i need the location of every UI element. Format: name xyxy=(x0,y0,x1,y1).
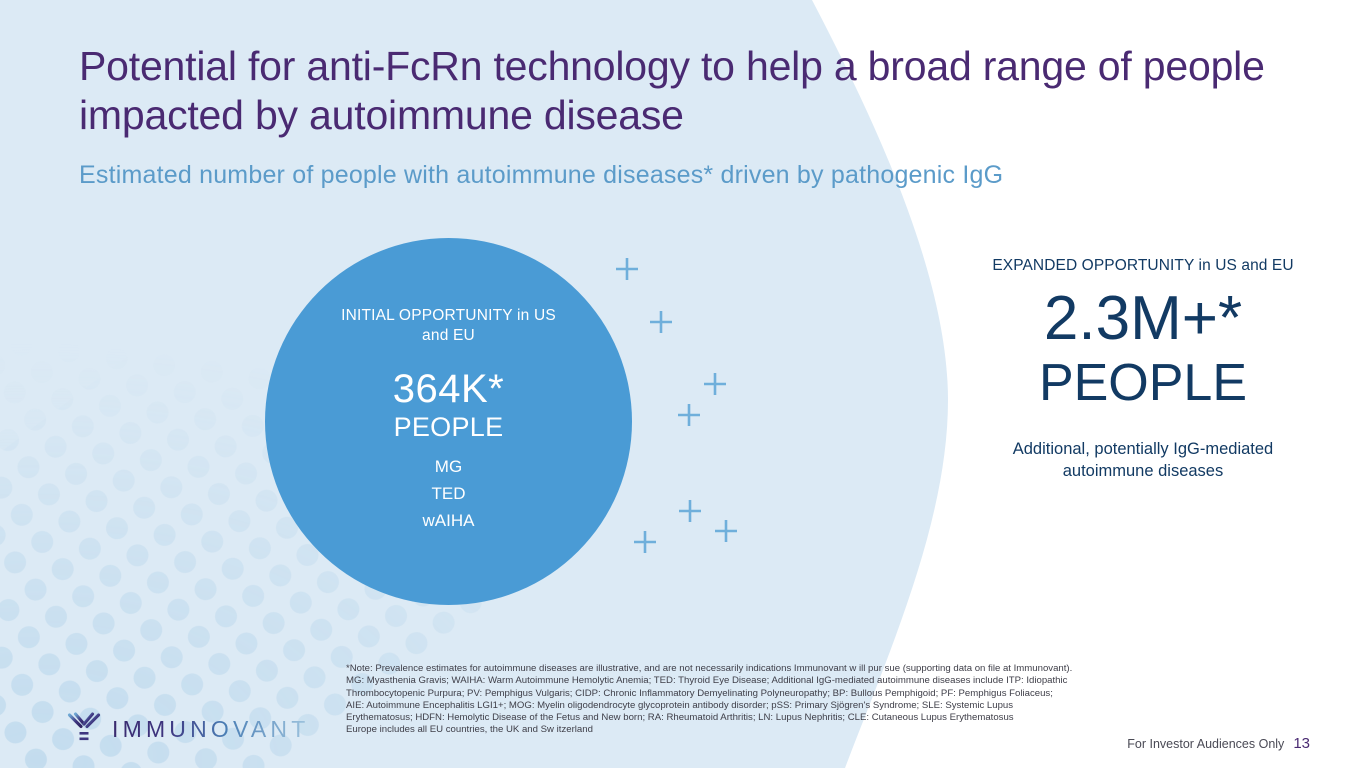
initial-opportunity-disease-list: MGTEDwAIHA xyxy=(423,457,475,531)
immunovant-logo: IMMUNOVANT xyxy=(66,712,309,746)
slide-canvas: Potential for anti-FcRn technology to he… xyxy=(0,0,1365,768)
page-title: Potential for anti-FcRn technology to he… xyxy=(79,42,1299,140)
plus-icon xyxy=(634,531,656,553)
initial-opportunity-eyebrow: INITIAL OPPORTUNITY in US and EU xyxy=(334,306,564,346)
investor-audience-note: For Investor Audiences Only xyxy=(1127,737,1284,751)
plus-icon xyxy=(715,520,737,542)
plus-icon xyxy=(704,373,726,395)
footnote-line: Thrombocytopenic Purpura; PV: Pemphigus … xyxy=(346,688,1226,700)
footnote-line: Europe includes all EU countries, the UK… xyxy=(346,724,1226,736)
expanded-opportunity-value: 2.3M+* xyxy=(955,284,1331,354)
plus-icon xyxy=(616,258,638,280)
expanded-opportunity-caption: Additional, potentially IgG-mediated aut… xyxy=(955,438,1331,482)
title-block: Potential for anti-FcRn technology to he… xyxy=(79,42,1299,190)
initial-opportunity-disease: TED xyxy=(423,484,475,504)
slide-number: 13 xyxy=(1293,735,1310,752)
plus-icon xyxy=(679,500,701,522)
initial-opportunity-disease: wAIHA xyxy=(423,511,475,531)
footnote-line: AIE: Autoimmune Encephalitis LGI1+; MOG:… xyxy=(346,700,1226,712)
footnote-block: *Note: Prevalence estimates for autoimmu… xyxy=(346,663,1226,737)
footnote-line: MG: Myasthenia Gravis; WAIHA: Warm Autoi… xyxy=(346,675,1226,687)
footnote-line: *Note: Prevalence estimates for autoimmu… xyxy=(346,663,1226,675)
expanded-opportunity-eyebrow: EXPANDED OPPORTUNITY in US and EU xyxy=(955,256,1331,276)
footer-right: For Investor Audiences Only 13 xyxy=(1127,735,1310,752)
expanded-opportunity-unit: PEOPLE xyxy=(955,354,1331,412)
page-subtitle: Estimated number of people with autoimmu… xyxy=(79,140,1299,190)
initial-opportunity-unit: PEOPLE xyxy=(394,412,504,443)
antibody-y-icon xyxy=(66,712,102,746)
footnote-line: Erythematosus; HDFN: Hemolytic Disease o… xyxy=(346,712,1226,724)
plus-icon xyxy=(650,311,672,333)
logo-wordmark: IMMUNOVANT xyxy=(112,716,309,743)
initial-opportunity-value: 364K* xyxy=(393,366,504,412)
initial-opportunity-disease: MG xyxy=(423,457,475,477)
initial-opportunity-circle: INITIAL OPPORTUNITY in US and EU 364K* P… xyxy=(265,238,632,605)
expanded-opportunity-block: EXPANDED OPPORTUNITY in US and EU 2.3M+*… xyxy=(955,256,1331,482)
plus-icon xyxy=(678,404,700,426)
